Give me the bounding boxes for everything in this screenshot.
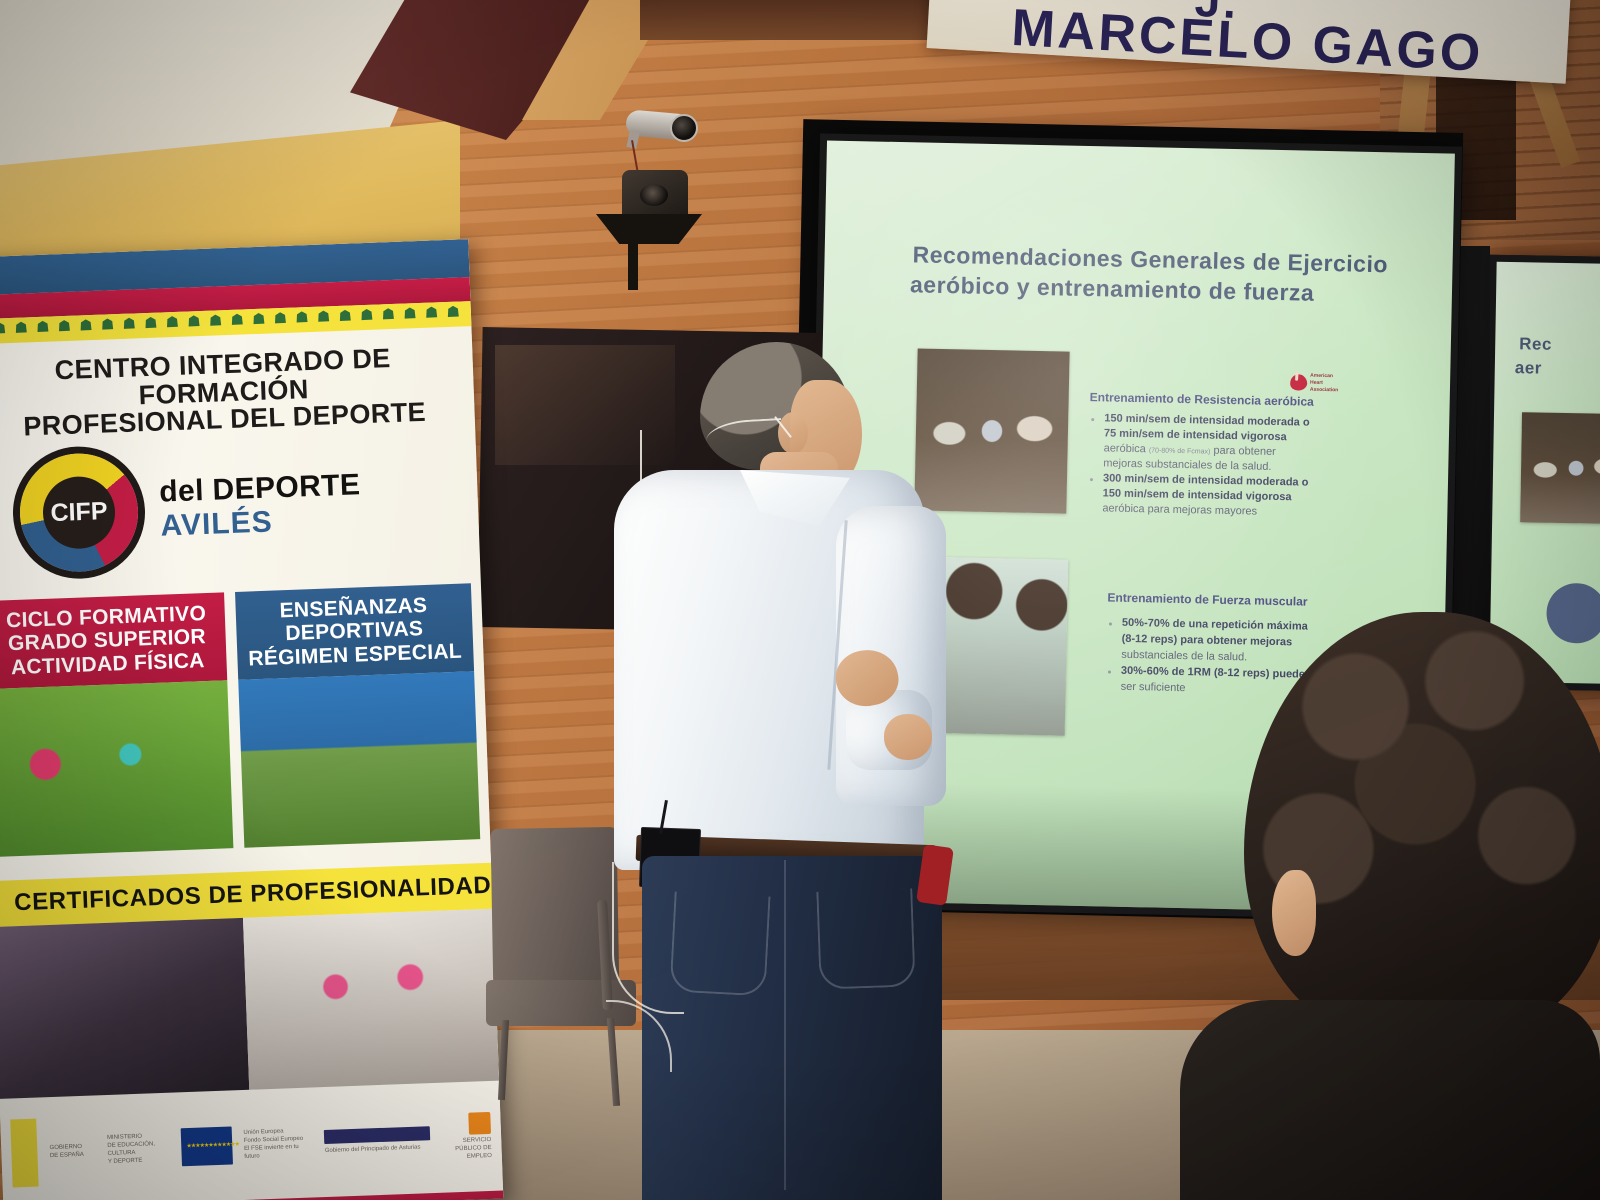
warm-color-cast bbox=[0, 0, 1600, 1200]
presentation-room-photo: MARCELO GAGO J. Rec aer Recomendaciones … bbox=[0, 0, 1600, 1200]
